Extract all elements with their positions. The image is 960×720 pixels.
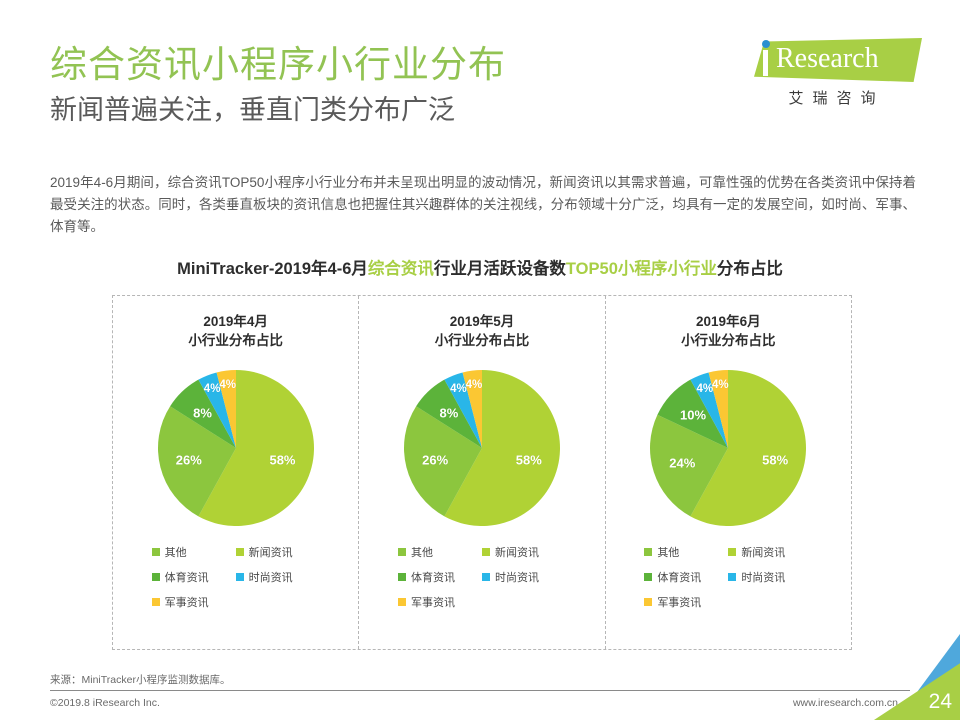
- pie-slice-label: 24%: [669, 455, 695, 470]
- legend-swatch-icon: [236, 548, 244, 556]
- legend-item-other[interactable]: 其他: [152, 544, 236, 560]
- pie-slice-label: 4%: [466, 379, 483, 391]
- logo-chinese-name: 艾瑞咨询: [742, 87, 922, 108]
- chart-panel: 2019年4月小行业分布占比58%26%8%4%4%其他新闻资讯体育资讯时尚资讯…: [113, 296, 358, 649]
- copyright-note: ©2019.8 iResearch Inc.: [50, 697, 160, 709]
- legend-item-military[interactable]: 军事资讯: [152, 594, 236, 610]
- panel-title-month: 2019年4月: [188, 312, 283, 331]
- legend-swatch-icon: [236, 573, 244, 581]
- pie-slice-label: 58%: [516, 453, 542, 468]
- chart-legend: 其他新闻资讯体育资讯时尚资讯军事资讯: [398, 544, 566, 610]
- legend-item-fashion[interactable]: 时尚资讯: [482, 569, 566, 585]
- pie-slice-label: 4%: [696, 383, 713, 395]
- legend-item-news[interactable]: 新闻资讯: [728, 544, 812, 560]
- legend-swatch-icon: [398, 598, 406, 606]
- chart-legend: 其他新闻资讯体育资讯时尚资讯军事资讯: [644, 544, 812, 610]
- legend-swatch-icon: [644, 548, 652, 556]
- pie-slice-label: 26%: [422, 453, 448, 468]
- legend-item-fashion[interactable]: 时尚资讯: [728, 569, 812, 585]
- legend-swatch-icon: [152, 548, 160, 556]
- chart-panel: 2019年5月小行业分布占比58%26%8%4%4%其他新闻资讯体育资讯时尚资讯…: [358, 296, 604, 649]
- chart-legend: 其他新闻资讯体育资讯时尚资讯军事资讯: [152, 544, 320, 610]
- page-number: 24: [929, 690, 952, 714]
- pie-slice-label: 8%: [193, 405, 212, 420]
- panel-title-subtitle: 小行业分布占比: [188, 331, 283, 350]
- chart-title-seg5: 分布占比: [717, 260, 783, 278]
- panel-title: 2019年4月小行业分布占比: [188, 312, 283, 350]
- corner-decoration: 24: [874, 634, 960, 720]
- legend-label: 新闻资讯: [249, 544, 293, 560]
- chart-title: MiniTracker-2019年4-6月综合资讯行业月活跃设备数TOP50小程…: [0, 255, 960, 279]
- legend-swatch-icon: [482, 548, 490, 556]
- legend-label: 体育资讯: [165, 569, 209, 585]
- legend-label: 时尚资讯: [249, 569, 293, 585]
- legend-item-other[interactable]: 其他: [644, 544, 728, 560]
- legend-item-sports[interactable]: 体育资讯: [644, 569, 728, 585]
- pie-slice-label: 58%: [762, 453, 788, 468]
- chart-panel: 2019年6月小行业分布占比58%24%10%4%4%其他新闻资讯体育资讯时尚资…: [605, 296, 851, 649]
- pie-chart: 58%26%8%4%4%: [121, 364, 351, 532]
- legend-item-other[interactable]: 其他: [398, 544, 482, 560]
- legend-item-military[interactable]: 军事资讯: [644, 594, 728, 610]
- legend-label: 其他: [165, 544, 187, 560]
- legend-label: 军事资讯: [411, 594, 455, 610]
- legend-label: 新闻资讯: [741, 544, 785, 560]
- legend-swatch-icon: [152, 573, 160, 581]
- legend-label: 新闻资讯: [495, 544, 539, 560]
- pie-chart: 58%26%8%4%4%: [367, 364, 597, 532]
- chart-title-seg2: 综合资讯: [368, 260, 434, 278]
- legend-label: 其他: [411, 544, 433, 560]
- pie-slice-label: 4%: [450, 383, 467, 395]
- legend-swatch-icon: [644, 573, 652, 581]
- legend-item-fashion[interactable]: 时尚资讯: [236, 569, 320, 585]
- panel-title: 2019年6月小行业分布占比: [681, 312, 776, 350]
- page-header: 综合资讯小程序小行业分布 新闻普遍关注，垂直门类分布广泛: [50, 44, 690, 128]
- legend-label: 军事资讯: [165, 594, 209, 610]
- pie-slice-label: 58%: [269, 453, 295, 468]
- source-note: 来源：MiniTracker小程序监测数据库。: [50, 672, 230, 687]
- legend-item-news[interactable]: 新闻资讯: [482, 544, 566, 560]
- legend-label: 军事资讯: [657, 594, 701, 610]
- page-subtitle: 新闻普遍关注，垂直门类分布广泛: [50, 93, 690, 128]
- legend-label: 体育资讯: [657, 569, 701, 585]
- legend-label: 体育资讯: [411, 569, 455, 585]
- pie-slice-label: 4%: [219, 379, 236, 391]
- legend-swatch-icon: [728, 548, 736, 556]
- panel-title-subtitle: 小行业分布占比: [435, 331, 530, 350]
- legend-label: 时尚资讯: [495, 569, 539, 585]
- pie-slice-label: 10%: [680, 407, 706, 422]
- panel-title-month: 2019年5月: [435, 312, 530, 331]
- logo-text: Research: [776, 43, 879, 75]
- legend-item-news[interactable]: 新闻资讯: [236, 544, 320, 560]
- legend-swatch-icon: [398, 573, 406, 581]
- logo-mark: Research: [754, 38, 922, 82]
- chart-title-seg1: MiniTracker-2019年4-6月: [177, 260, 368, 278]
- legend-swatch-icon: [644, 598, 652, 606]
- panel-title: 2019年5月小行业分布占比: [435, 312, 530, 350]
- chart-title-seg4: TOP50小程序小行业: [566, 260, 717, 278]
- legend-item-sports[interactable]: 体育资讯: [398, 569, 482, 585]
- chart-panels-container: 2019年4月小行业分布占比58%26%8%4%4%其他新闻资讯体育资讯时尚资讯…: [112, 295, 852, 650]
- chart-title-seg3: 行业月活跃设备数: [434, 260, 566, 278]
- pie-slice-label: 4%: [712, 379, 729, 391]
- pie-slice-label: 8%: [439, 405, 458, 420]
- legend-swatch-icon: [398, 548, 406, 556]
- page-title: 综合资讯小程序小行业分布: [50, 44, 690, 87]
- legend-swatch-icon: [728, 573, 736, 581]
- panel-title-month: 2019年6月: [681, 312, 776, 331]
- pie-slice-label: 26%: [176, 453, 202, 468]
- pie-slice-label: 4%: [204, 383, 221, 395]
- legend-item-sports[interactable]: 体育资讯: [152, 569, 236, 585]
- legend-swatch-icon: [152, 598, 160, 606]
- panel-title-subtitle: 小行业分布占比: [681, 331, 776, 350]
- pie-chart: 58%24%10%4%4%: [613, 364, 843, 532]
- iresearch-logo: Research 艾瑞咨询: [742, 38, 922, 108]
- logo-i-stem-icon: [763, 50, 768, 76]
- legend-label: 其他: [657, 544, 679, 560]
- legend-label: 时尚资讯: [741, 569, 785, 585]
- legend-item-military[interactable]: 军事资讯: [398, 594, 482, 610]
- legend-swatch-icon: [482, 573, 490, 581]
- footer-divider: [50, 690, 910, 691]
- body-paragraph: 2019年4-6月期间，综合资讯TOP50小程序小行业分布并未呈现出明显的波动情…: [50, 172, 916, 238]
- logo-i-dot-icon: [762, 40, 770, 48]
